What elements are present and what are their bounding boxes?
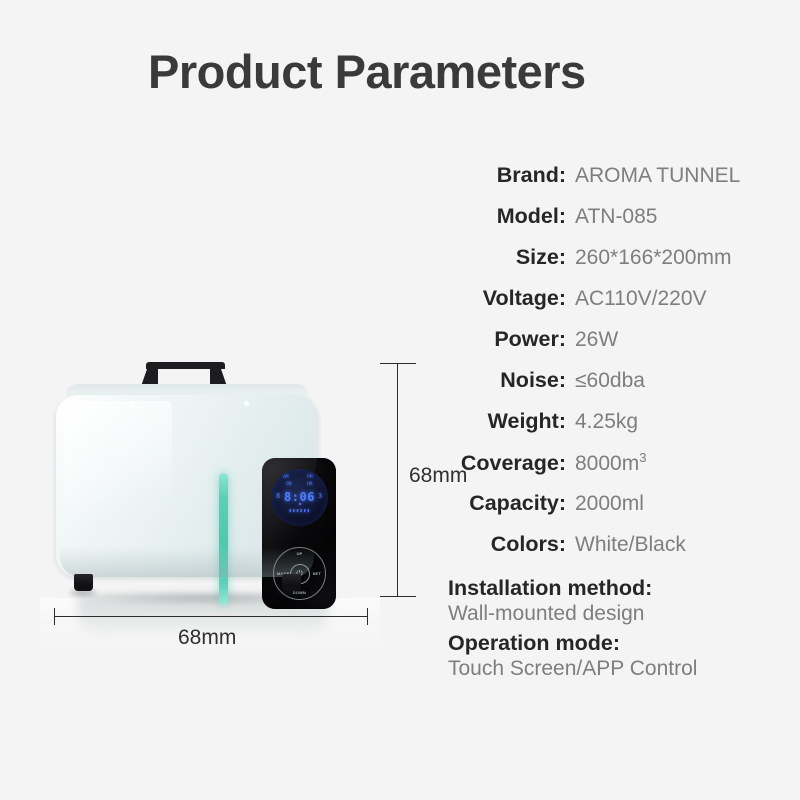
- spec-value: 260*166*200mm: [575, 246, 731, 270]
- spec-label: Voltage:: [448, 286, 566, 311]
- lcd-label-pm: PM: [307, 475, 313, 480]
- dimension-width-cap-left: [54, 608, 55, 625]
- product-parameters-page: Product Parameters AM PM: [0, 0, 800, 800]
- page-title: Product Parameters: [148, 44, 586, 99]
- spec-label: Model:: [448, 204, 566, 229]
- lcd-display: AM PM ON HR 8 3 8:06 ▮▮▮▮▮▮: [271, 469, 328, 526]
- set-button[interactable]: SET: [313, 572, 321, 576]
- spec-label: Power:: [448, 327, 566, 352]
- spec-value: 4.25kg: [575, 410, 638, 434]
- spec-value: ≤60dba: [575, 369, 645, 393]
- spec-label: Size:: [448, 245, 566, 270]
- spec-row: Capacity:2000ml: [448, 491, 800, 532]
- spec-row: Weight:4.25kg: [448, 409, 800, 450]
- spec-label: Installation method:: [448, 576, 800, 601]
- lcd-main-value: 8:06: [271, 490, 328, 504]
- spec-value: White/Black: [575, 533, 686, 557]
- spec-value: AROMA TUNNEL: [575, 164, 740, 188]
- body-gloss-highlight: [64, 401, 172, 561]
- spec-row: Model:ATN-085: [448, 204, 800, 245]
- foot-shadow-right: [278, 589, 304, 596]
- spec-value-superscript: 3: [639, 450, 646, 465]
- dimension-width-line: [54, 616, 368, 617]
- spec-label: Colors:: [448, 532, 566, 557]
- dimension-height-cap-top: [380, 363, 416, 364]
- up-button[interactable]: UP: [297, 552, 303, 556]
- body-dot-right: [244, 401, 249, 406]
- spec-row: Colors:White/Black: [448, 532, 800, 573]
- spec-value: Touch Screen/APP Control: [448, 656, 800, 681]
- foot-shadow-left: [70, 589, 96, 596]
- lcd-label-hr: HR: [307, 482, 313, 487]
- spec-row: Power:26W: [448, 327, 800, 368]
- spec-row: Operation mode:Touch Screen/APP Control: [448, 631, 800, 682]
- lcd-label-am: AM: [283, 475, 289, 480]
- lcd-label-on: ON: [286, 482, 292, 487]
- spec-label: Operation mode:: [448, 631, 800, 656]
- spec-label: Coverage:: [448, 451, 566, 476]
- led-light-strip: [219, 473, 228, 605]
- spec-value: 2000ml: [575, 492, 644, 516]
- spec-row: Installation method:Wall-mounted design: [448, 576, 800, 627]
- spec-row: Brand:AROMA TUNNEL: [448, 163, 800, 204]
- spec-label: Weight:: [448, 409, 566, 434]
- product-image: AM PM ON HR 8 3 8:06 ▮▮▮▮▮▮ UP MODE SET …: [30, 345, 450, 675]
- spec-row: Noise:≤60dba: [448, 368, 800, 409]
- dimension-height-line: [397, 363, 398, 597]
- device-body: AM PM ON HR 8 3 8:06 ▮▮▮▮▮▮ UP MODE SET …: [56, 395, 318, 577]
- lcd-segment-bars: ▮▮▮▮▮▮: [271, 508, 328, 514]
- dimension-height-cap-bottom: [380, 596, 416, 597]
- spec-value: ATN-085: [575, 205, 657, 229]
- dimension-width-label: 68mm: [178, 626, 236, 650]
- dimension-width: 68mm: [48, 608, 388, 664]
- lcd-indicator-dot: [299, 503, 301, 505]
- spec-value: 8000m3: [575, 450, 646, 476]
- spec-label: Capacity:: [448, 491, 566, 516]
- spec-row: Voltage:AC110V/220V: [448, 286, 800, 327]
- specification-list: Brand:AROMA TUNNELModel:ATN-085Size:260*…: [448, 163, 800, 685]
- spec-value: AC110V/220V: [575, 287, 707, 311]
- spec-row: Coverage:8000m3: [448, 450, 800, 491]
- spec-label: Noise:: [448, 368, 566, 393]
- dimension-width-cap-right: [367, 608, 368, 625]
- spec-value: 26W: [575, 328, 618, 352]
- spec-row: Size:260*166*200mm: [448, 245, 800, 286]
- spec-label: Brand:: [448, 163, 566, 188]
- spec-value: Wall-mounted design: [448, 601, 800, 626]
- body-dot-left: [129, 401, 134, 406]
